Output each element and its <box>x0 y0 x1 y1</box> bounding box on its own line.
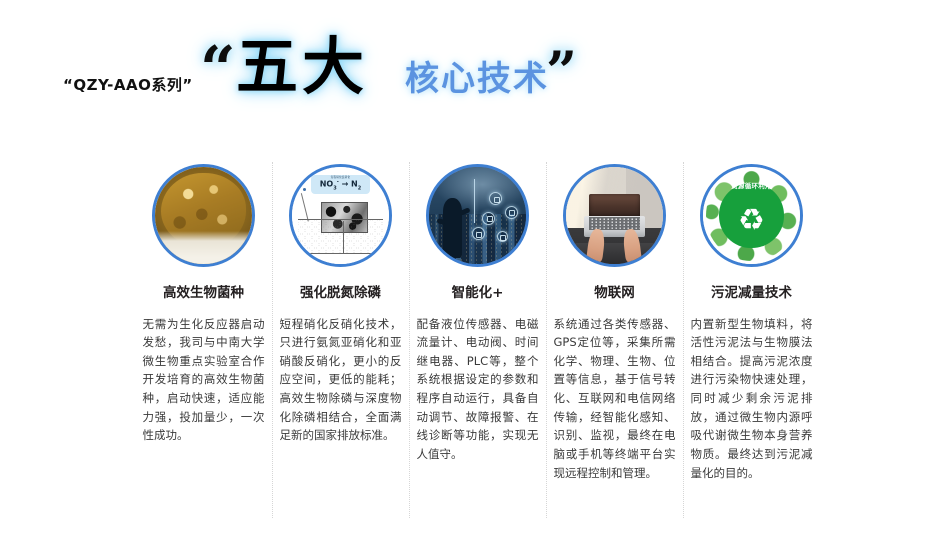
hud-icon <box>497 231 508 242</box>
circle-image-wrap: 短程硝化反硝化 NO3- → N2 <box>289 164 392 267</box>
circle-image-wrap <box>152 164 255 267</box>
feature-body: 配备液位传感器、电磁流量计、电动阀、时间继电器、PLC等，整个系统根据设定的参数… <box>417 315 539 464</box>
feature-column-bacteria: 高效生物菌种 无需为生化反应器启动发愁，我司与中南大学微生物重点实验室合作开发培… <box>135 160 272 530</box>
circle-image-wrap: 资源循环利用 ♻ <box>700 164 803 267</box>
eco-label: 资源循环利用 <box>703 183 800 190</box>
page-title-sub: 核心技术 <box>405 62 549 96</box>
schematic-graphic: 短程硝化反硝化 NO3- → N2 <box>292 167 389 264</box>
laptop-screen <box>589 194 639 216</box>
feature-column-iot: 物联网 系统通过各类传感器、GPS定位等，采集所需化学、物理、生物、位置等信息，… <box>546 160 683 530</box>
bed-divider <box>343 221 344 254</box>
hud-icon <box>482 212 495 225</box>
quote-open-mark: “ <box>200 38 236 100</box>
recycle-eco-graphic-icon: 资源循环利用 ♻ <box>700 164 803 267</box>
feature-column-sludge: 资源循环利用 ♻ 污泥减量技术 内置新型生物填料，将活性污泥法与生物膜法相结合。… <box>683 160 820 530</box>
feature-body: 系统通过各类传感器、GPS定位等，采集所需化学、物理、生物、位置等信息，基于信号… <box>554 315 676 483</box>
laptop-hands-photo-icon <box>563 164 666 267</box>
page-title-main: 五大 <box>236 36 368 98</box>
feature-body: 内置新型生物填料，将活性污泥法与生物膜法相结合。提高污泥浓度进行污染物快速处理，… <box>691 315 813 483</box>
feature-title: 高效生物菌种 <box>163 287 244 301</box>
page-header: “QZY-AAO系列” “ 五大 核心技术 ” <box>0 0 950 150</box>
feature-title: 污泥减量技术 <box>711 287 792 301</box>
bacteria-powder-photo-icon <box>152 164 255 267</box>
hud-icon <box>505 206 518 219</box>
feature-column-denitrification: 短程硝化反硝化 NO3- → N2 强化脱氮除磷 短程硝化反硝化技术，只进行氨氮… <box>272 160 409 530</box>
eco-graphic: 资源循环利用 ♻ <box>703 167 800 264</box>
feature-title: 物联网 <box>594 287 635 301</box>
feature-title: 智能化+ <box>452 287 504 301</box>
feature-column-intelligent: 智能化+ 配备液位传感器、电磁流量计、电动阀、时间继电器、PLC等，整个系统根据… <box>409 160 546 530</box>
feature-body: 短程硝化反硝化技术，只进行氨氮亚硝化和亚硝酸反硝化，更小的反应空间，更低的能耗；… <box>280 315 402 445</box>
laptop-graphic <box>566 167 663 264</box>
feature-columns: 高效生物菌种 无需为生化反应器启动发愁，我司与中南大学微生物重点实验室合作开发培… <box>135 160 820 530</box>
feature-title: 强化脱氮除磷 <box>300 287 381 301</box>
smart-city-tech-photo-icon <box>426 164 529 267</box>
circle-image-wrap <box>563 164 666 267</box>
desk-surface <box>566 243 663 264</box>
recycle-icon: ♻ <box>738 206 765 236</box>
media-bed-bubbles <box>298 219 383 254</box>
nitrification-schematic-icon: 短程硝化反硝化 NO3- → N2 <box>289 164 392 267</box>
pointer-dot <box>303 188 306 191</box>
hud-icon <box>472 227 485 240</box>
powder-dish-graphic <box>155 167 252 264</box>
series-tag: “QZY-AAO系列” <box>63 74 193 95</box>
person-silhouette <box>443 198 462 258</box>
quote-close-mark: ” <box>546 44 577 98</box>
tech-graphic <box>429 167 526 264</box>
tech-tower <box>474 179 476 224</box>
circle-image-wrap <box>426 164 529 267</box>
feature-body: 无需为生化反应器启动发愁，我司与中南大学微生物重点实验室合作开发培育的高效生物菌… <box>143 315 265 445</box>
